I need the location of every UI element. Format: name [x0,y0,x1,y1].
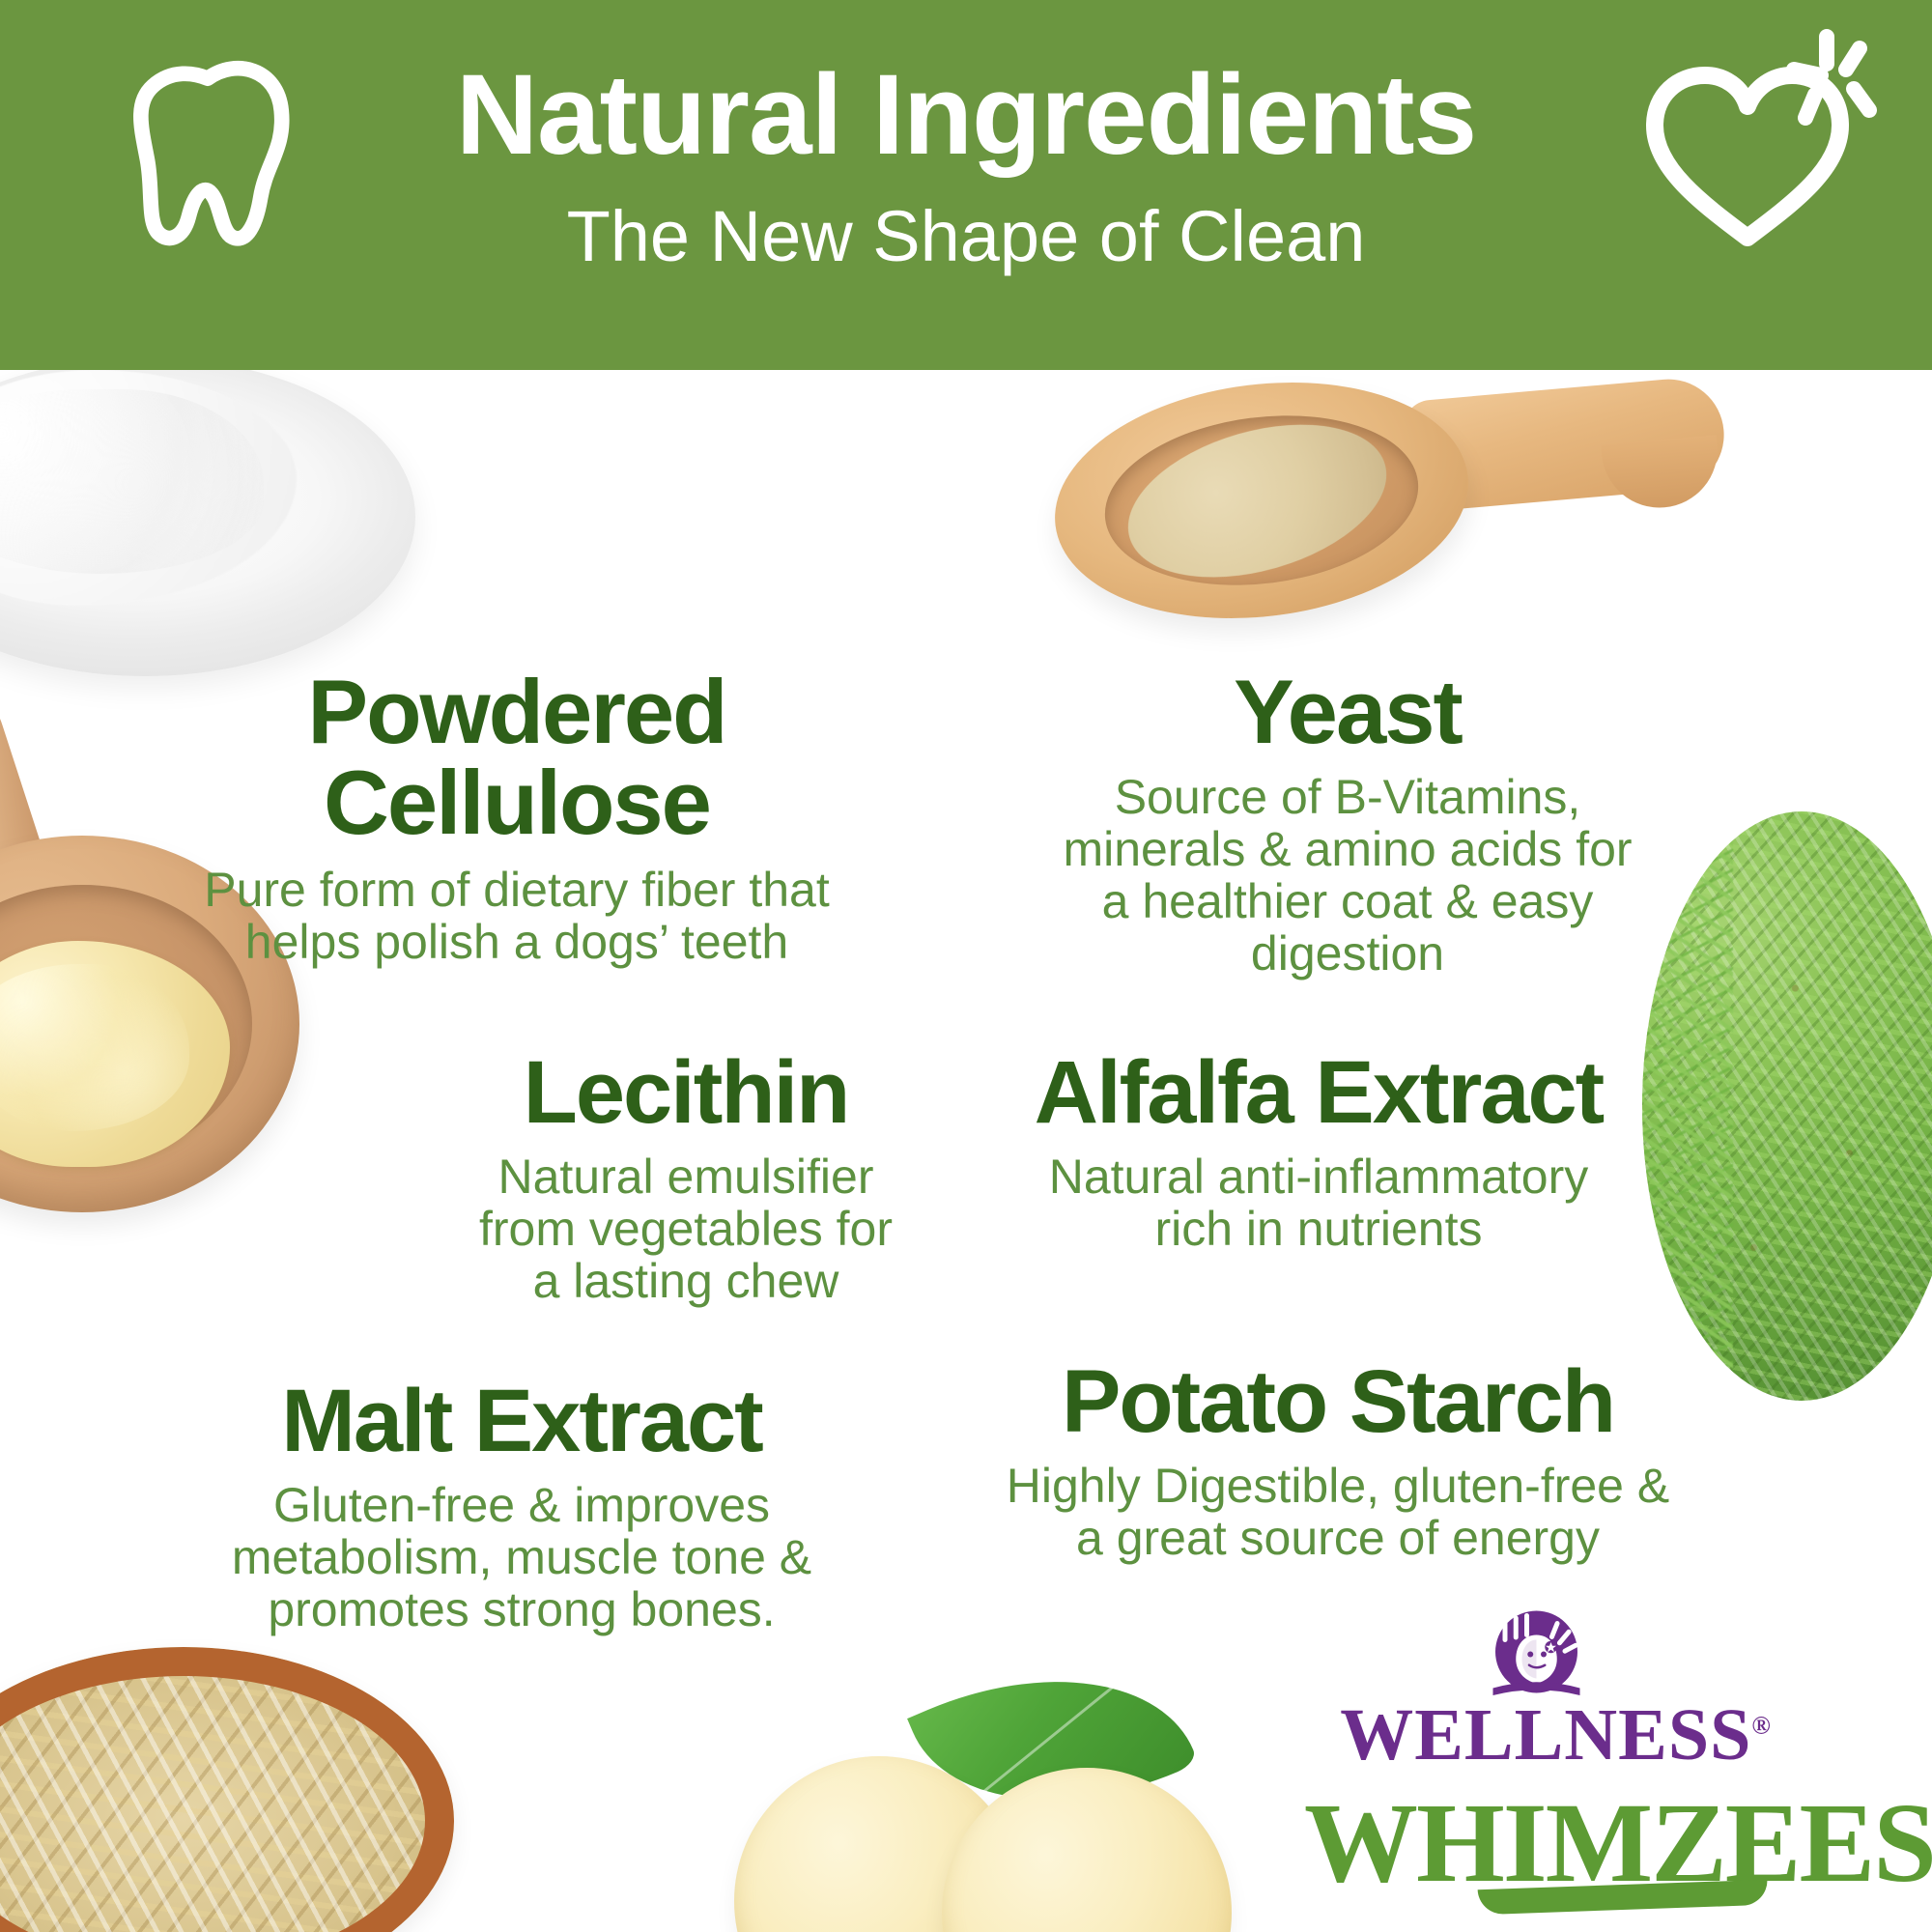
ingredient-potato-starch: Potato Starch Highly Digestible, gluten-… [971,1357,1705,1564]
photo-alfalfa-sprouts [1642,811,1932,1401]
ingredient-title: Malt Extract [184,1377,860,1465]
ingredient-alfalfa-extract: Alfalfa Extract Natural anti-inflammator… [976,1048,1662,1255]
ingredient-description: Natural anti-inflammatory rich in nutrie… [976,1151,1662,1255]
photo-powdered-cellulose [0,357,415,676]
ingredient-description: Natural emulsifier from vegetables for a… [386,1151,985,1307]
brand-wellness-text: WELLNESS [1340,1694,1751,1776]
registered-mark-wellness: ® [1751,1712,1770,1740]
ingredient-lecithin: Lecithin Natural emulsifier from vegetab… [386,1048,985,1307]
bowl-rim [0,1647,454,1932]
ingredient-malt-extract: Malt Extract Gluten-free & improves meta… [184,1377,860,1635]
ingredient-title: Lecithin [386,1048,985,1137]
sunburst-face-emblem-icon [1476,1608,1597,1700]
ingredients-infographic: Natural Ingredients The New Shape of Cle… [0,0,1932,1932]
yeast-granules [1111,397,1405,604]
brand-logo: WELLNESS® WHIMZEES® [1314,1608,1913,1927]
ingredient-title: Alfalfa Extract [976,1048,1662,1137]
ingredient-yeast: Yeast Source of B-Vitamins, minerals & a… [1024,667,1671,980]
photo-barley-bowl [0,1647,454,1932]
potato-slice-right [942,1768,1232,1932]
lecithin-powder [0,941,230,1167]
ingredient-description: Gluten-free & improves metabolism, muscl… [184,1479,860,1635]
page-subtitle: The New Shape of Clean [0,199,1932,274]
header-band: Natural Ingredients The New Shape of Cle… [0,0,1932,370]
ingredient-title: Yeast [1024,667,1671,757]
ingredient-powdered-cellulose: Powdered Cellulose Pure form of dietary … [188,667,845,968]
photo-potato-slices [734,1700,1217,1932]
page-title: Natural Ingredients [0,56,1932,176]
ingredient-description: Pure form of dietary fiber that helps po… [188,864,845,968]
ingredient-description: Highly Digestible, gluten-free & a great… [971,1460,1705,1564]
ingredient-description: Source of B-Vitamins, minerals & amino a… [1024,771,1671,980]
scoop-bowl [1041,360,1482,641]
photo-yeast-scoop [1048,375,1724,631]
ingredient-title: Potato Starch [971,1357,1705,1446]
ingredient-title: Powdered Cellulose [188,667,845,848]
brand-wellness-wordmark: WELLNESS® [1314,1693,1797,1777]
